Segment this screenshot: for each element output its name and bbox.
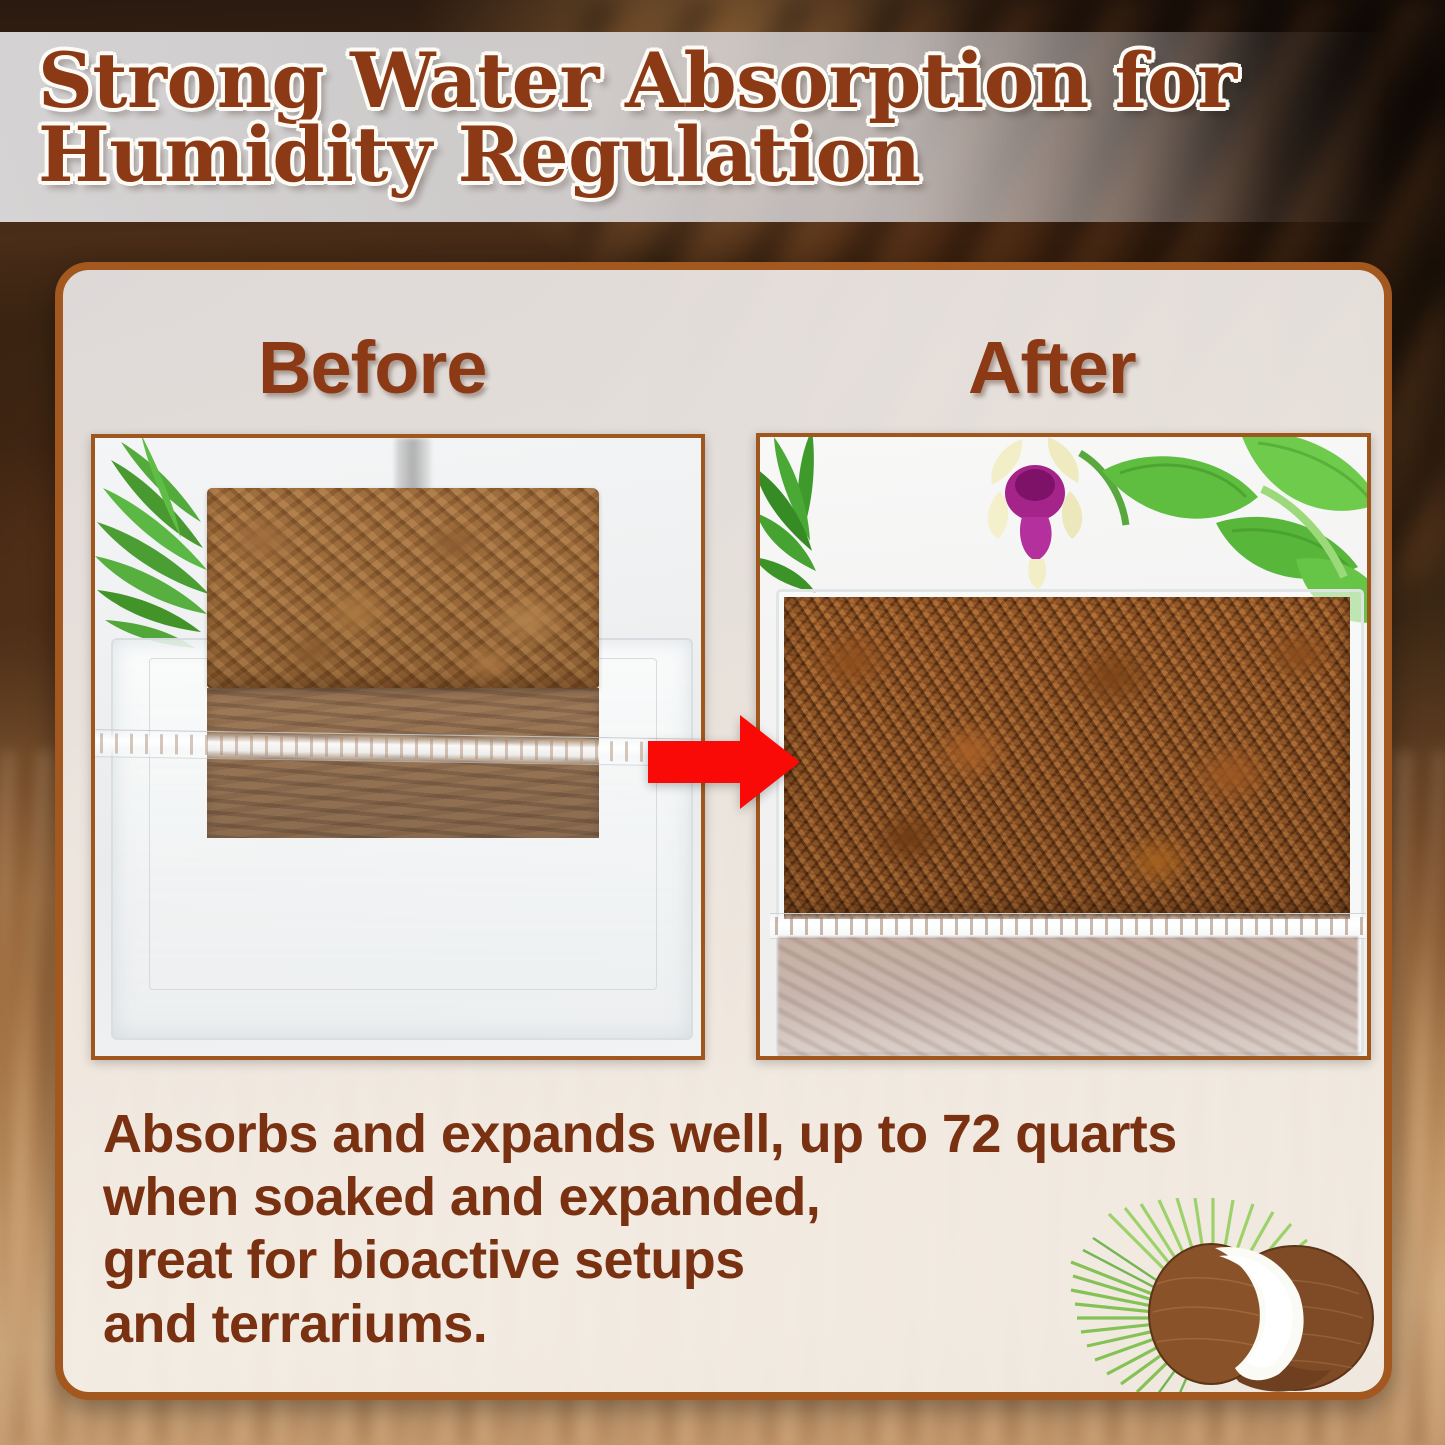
coconut-icon [1063, 1198, 1392, 1400]
right-arrow-icon [648, 713, 800, 811]
after-expanded-fiber [784, 597, 1350, 919]
page-title: Strong Water Absorption for Humidity Reg… [38, 44, 1328, 193]
coconut-halves [1149, 1244, 1373, 1392]
after-photo [756, 433, 1371, 1060]
content-panel: Before After [55, 262, 1392, 1400]
infographic-root: Strong Water Absorption for Humidity Reg… [0, 0, 1445, 1445]
before-label: Before [258, 325, 486, 410]
before-glass-pattern [95, 733, 705, 763]
after-glass-rim [770, 913, 1366, 939]
after-container-lower-wall [778, 937, 1358, 1060]
after-label: After [968, 325, 1136, 410]
after-glass-rim-pattern [770, 917, 1366, 935]
before-photo [91, 434, 705, 1060]
before-coir-brick [207, 488, 599, 688]
